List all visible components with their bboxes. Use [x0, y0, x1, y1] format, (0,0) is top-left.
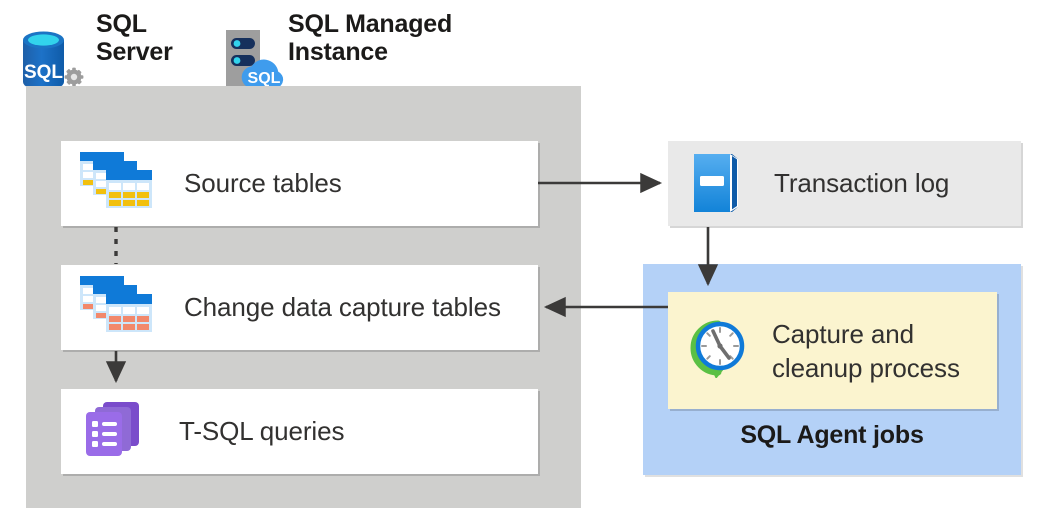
clock-refresh-icon — [688, 318, 748, 383]
card-tsql-queries[interactable]: T-SQL queries — [61, 389, 538, 474]
stacked-tables-yellow-icon — [78, 150, 154, 217]
managed-instance-title-line2: Instance — [288, 38, 518, 66]
sql-managed-instance-icon: SQL — [220, 26, 290, 92]
card-cdc-tables-label: Change data capture tables — [184, 292, 501, 323]
sql-server-title-line2: Server — [96, 38, 236, 66]
sql-server-database-icon: SQL — [14, 26, 86, 92]
card-cdc-tables[interactable]: Change data capture tables — [61, 265, 538, 350]
managed-instance-title: SQL Managed Instance — [288, 10, 518, 66]
managed-instance-title-line1: SQL Managed — [288, 10, 518, 38]
card-source-tables[interactable]: Source tables — [61, 141, 538, 226]
card-capture-cleanup-process-label: Capture and cleanup process — [772, 317, 997, 385]
card-tsql-queries-label: T-SQL queries — [179, 416, 344, 447]
svg-text:SQL: SQL — [248, 70, 281, 87]
blue-book-icon — [686, 150, 744, 217]
card-source-tables-label: Source tables — [184, 168, 342, 199]
card-transaction-log-label: Transaction log — [774, 168, 949, 199]
stacked-tables-orange-icon — [78, 274, 154, 341]
diagram-canvas: SQL SQL Server — [0, 0, 1044, 527]
svg-text:SQL: SQL — [24, 62, 63, 83]
sql-server-title-line1: SQL — [96, 10, 236, 38]
card-transaction-log[interactable]: Transaction log — [668, 141, 1021, 226]
sql-server-title: SQL Server — [96, 10, 236, 66]
card-capture-cleanup-process[interactable]: Capture and cleanup process — [668, 292, 997, 409]
sql-agent-jobs-label: SQL Agent jobs — [643, 421, 1021, 450]
purple-query-list-icon — [83, 400, 147, 463]
